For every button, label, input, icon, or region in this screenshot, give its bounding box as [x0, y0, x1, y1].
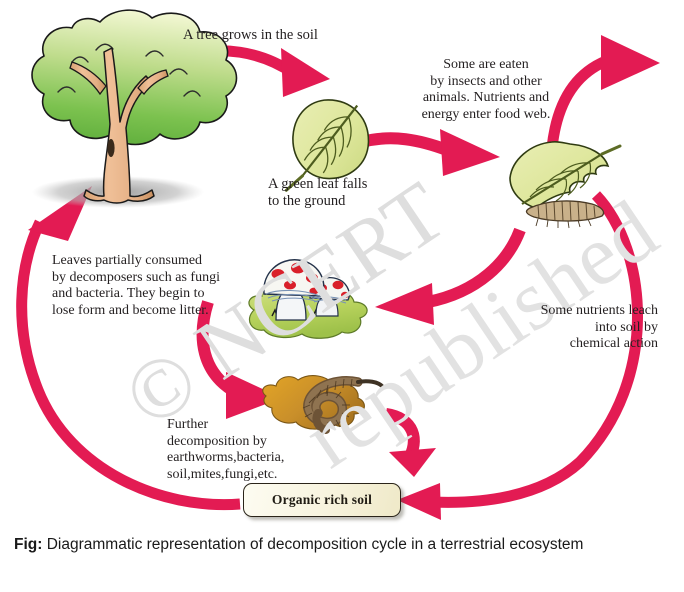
figure-caption-text: Diagrammatic representation of decomposi…	[42, 536, 583, 553]
label-green-leaf-falls: A green leaf falls to the ground	[268, 176, 367, 210]
organic-rich-soil-label: Organic rich soil	[272, 492, 372, 508]
label-some-are-eaten: Some are eaten by insects and other anim…	[388, 57, 584, 123]
label-tree-grows-in-soil: A tree grows in the soil	[183, 27, 318, 44]
figure-caption: Fig: Diagrammatic representation of deco…	[14, 534, 664, 555]
caterpillar	[527, 201, 604, 228]
arrow-earthworm-to-organic-soil	[386, 414, 436, 477]
arrow-leaf-to-eaten-leaf	[362, 129, 500, 176]
organic-rich-soil-box: Organic rich soil	[243, 483, 401, 517]
eaten-leaf-with-caterpillar-illustration	[510, 142, 620, 228]
figure-container: © NCERT republished A tree grows in the …	[0, 0, 684, 592]
label-further-decomposition: Further decomposition by earthworms,bact…	[167, 417, 332, 483]
label-nutrients-leach: Some nutrients leach into soil by chemic…	[478, 303, 658, 353]
figure-caption-prefix: Fig:	[14, 536, 42, 553]
label-leaves-consumed-by-decomposers: Leaves partially consumed by decomposers…	[52, 253, 267, 319]
